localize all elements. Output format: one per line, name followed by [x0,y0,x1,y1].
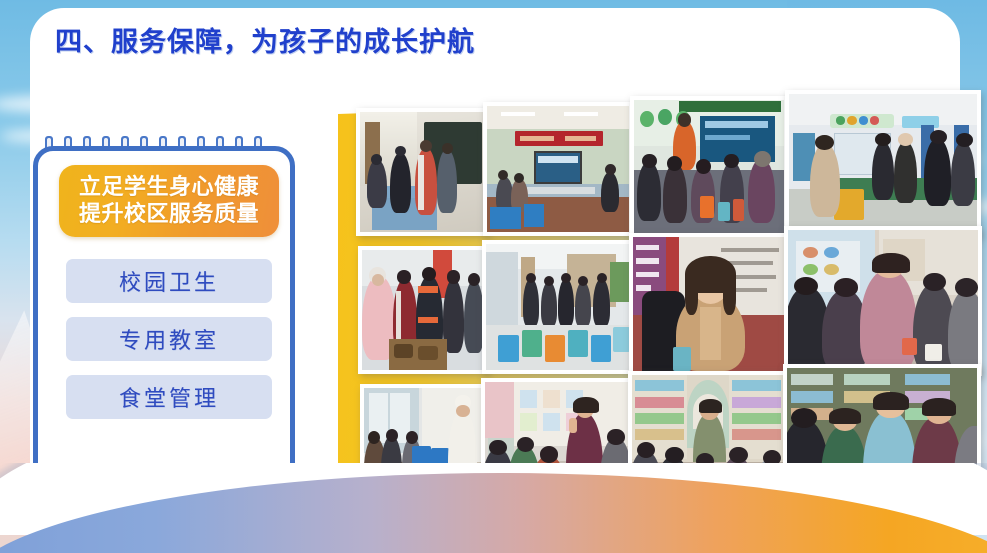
photo-cell[interactable] [358,246,488,374]
notebook-header: 立足学生身心健康 提升校区服务质量 [59,165,279,237]
notebook-item-1[interactable]: 专用教室 [66,317,272,361]
bottom-wave [0,463,987,553]
photo-cell[interactable] [629,233,789,375]
slide-stage: 四、服务保障，为孩子的成长护航 [0,0,987,553]
notebook-panel: 立足学生身心健康 提升校区服务质量 校园卫生 专用教室 食堂管理 [33,146,295,483]
notebook-header-line1: 立足学生身心健康 [79,174,259,201]
notebook-header-line2: 提升校区服务质量 [79,201,259,228]
photo-cell[interactable] [482,240,634,374]
photo-cell[interactable] [784,226,982,376]
photo-cell[interactable] [630,96,788,238]
photo-image [486,244,630,370]
notebook-item-label: 食堂管理 [119,381,219,413]
page-title: 四、服务保障，为孩子的成长护航 [55,20,475,59]
photo-grid [330,100,987,500]
photo-cell[interactable] [483,102,633,236]
photo-image [788,230,978,372]
photo-image [634,100,784,234]
photo-image [487,106,629,232]
photo-image [789,94,977,234]
notebook-item-0[interactable]: 校园卫生 [66,259,272,303]
photo-cell[interactable] [356,108,488,236]
photo-image [633,237,785,371]
photo-image [362,250,484,370]
photo-image [360,112,484,232]
notebook-item-2[interactable]: 食堂管理 [66,375,272,419]
notebook-item-label: 专用教室 [119,323,219,355]
photo-collage [330,100,987,500]
photo-cell[interactable] [785,90,981,238]
notebook-item-label: 校园卫生 [119,265,219,297]
notebook-item-list: 校园卫生 专用教室 食堂管理 [66,259,272,433]
